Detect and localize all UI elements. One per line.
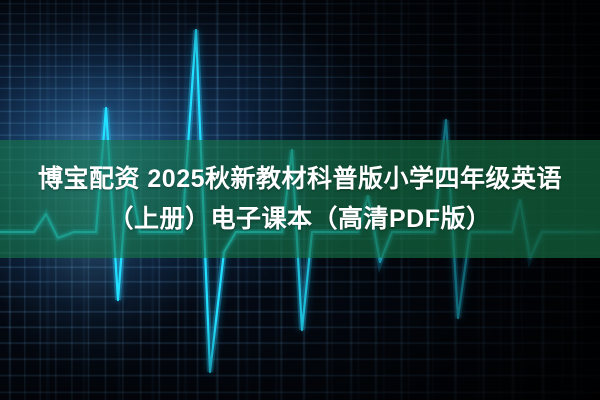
caption-text: 博宝配资 2025秋新教材科普版小学四年级英语（上册）电子课本（高清PDF版） xyxy=(20,159,580,239)
image-canvas: 博宝配资 2025秋新教材科普版小学四年级英语（上册）电子课本（高清PDF版） xyxy=(0,0,600,400)
caption-band: 博宝配资 2025秋新教材科普版小学四年级英语（上册）电子课本（高清PDF版） xyxy=(0,140,600,258)
